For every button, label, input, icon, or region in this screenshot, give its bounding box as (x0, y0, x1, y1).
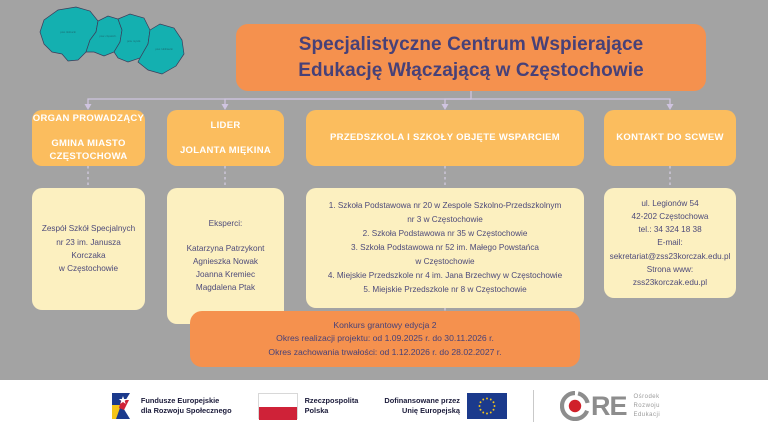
contact-email-label: E-mail: (657, 236, 682, 249)
body-lider-eksperci: Eksperci: Katarzyna Patrzykont Agnieszka… (167, 188, 284, 324)
header-line-2: JOLANTA MIĘKINA (180, 144, 271, 158)
eu-cofunded-line-2: Unię Europejską (384, 406, 460, 416)
expert-name: Magdalena Ptak (196, 281, 255, 294)
body-kontakt: ul. Legionów 54 42-202 Częstochowa tel.:… (604, 188, 736, 298)
grant-line-2: Okres realizacji projektu: od 1.09.2025 … (276, 332, 494, 346)
header-przedszkola-szkoly[interactable]: PRZEDSZKOLA I SZKOŁY OBJĘTE WSPARCIEM (306, 110, 584, 166)
contact-address-city: 42-202 Częstochowa (632, 210, 709, 223)
ore-sub-line-2: Rozwoju (633, 402, 660, 411)
column-organ-prowadzacy: ORGAN PROWADZĄCY GMINA MIASTO CZĘSTOCHOW… (32, 110, 145, 310)
ore-sub-line-1: Ośrodek (633, 393, 660, 402)
grant-line-3: Okres zachowania trwałości: od 1.12.2026… (268, 346, 501, 360)
school-list-item: 1. Szkoła Podstawowa nr 20 w Zespole Szk… (329, 199, 562, 213)
eksperci-label: Eksperci: (209, 217, 243, 230)
page-title-line-1: Specjalistyczne Centrum Wspierające (298, 32, 644, 58)
ore-subtitle: Ośrodek Rozwoju Edukacji (633, 393, 660, 420)
logo-dofinansowane-ue: Dofinansowane przez Unię Europejską (384, 393, 507, 419)
column-kontakt: KONTAKT DO SCWEW ul. Legionów 54 42-202 … (604, 110, 736, 298)
footer-logo-bar: Fundusze Europejskie dla Rozwoju Społecz… (0, 380, 768, 432)
expert-name: Joanna Kremiec (196, 268, 255, 281)
poland-line-2: Polska (305, 406, 359, 416)
expert-name: Agnieszka Nowak (193, 255, 258, 268)
region-map-svg: pow. kłobucki pow. częstoch. pow. myszk.… (24, 4, 192, 96)
header-line-1: KONTAKT DO SCWEW (616, 131, 724, 145)
logo-rzeczpospolita-polska: Rzeczpospolita Polska (258, 393, 359, 419)
logo-dofinansowane-ue-text: Dofinansowane przez Unię Europejską (384, 396, 460, 416)
column-przedszkola-szkoly: PRZEDSZKOLA I SZKOŁY OBJĘTE WSPARCIEM 1.… (306, 110, 584, 308)
grant-info-box: Konkurs grantowy edycja 2 Okres realizac… (190, 311, 580, 367)
body-line: w Częstochowie (59, 262, 118, 275)
svg-text:pow. myszk.: pow. myszk. (127, 39, 141, 43)
contact-www-value[interactable]: zss23korczak.edu.pl (633, 276, 707, 289)
header-lider[interactable]: LIDER JOLANTA MIĘKINA (167, 110, 284, 166)
contact-phone: tel.: 34 324 18 38 (638, 223, 701, 236)
body-organ-prowadzacy: Zespół Szkół Specjalnych nr 23 im. Janus… (32, 188, 145, 310)
header-line-1: ORGAN PROWADZĄCY (33, 112, 144, 126)
eu-funds-line-1: Fundusze Europejskie (141, 396, 232, 406)
logo-fundusze-europejskie: Fundusze Europejskie dla Rozwoju Społecz… (108, 391, 232, 421)
svg-text:pow. częstoch.: pow. częstoch. (99, 34, 116, 38)
logo-rzeczpospolita-polska-text: Rzeczpospolita Polska (305, 396, 359, 416)
svg-text:pow. lubliniecki: pow. lubliniecki (155, 47, 173, 51)
school-list-item: w Częstochowie (415, 255, 474, 269)
eu-funds-icon (108, 391, 134, 421)
logo-fundusze-europejskie-text: Fundusze Europejskie dla Rozwoju Społecz… (141, 396, 232, 416)
footer-divider (533, 390, 534, 422)
contact-address-street: ul. Legionów 54 (641, 197, 698, 210)
school-list-item: nr 3 w Częstochowie (407, 213, 483, 227)
header-kontakt[interactable]: KONTAKT DO SCWEW (604, 110, 736, 166)
header-line-1: PRZEDSZKOLA I SZKOŁY OBJĘTE WSPARCIEM (330, 131, 560, 145)
body-line: nr 23 im. Janusza Korczaka (38, 236, 139, 263)
region-map: pow. kłobucki pow. częstoch. pow. myszk.… (24, 4, 192, 96)
eu-flag-icon (467, 393, 507, 419)
ore-wordmark: RE (560, 391, 627, 421)
expert-name: Katarzyna Patrzykont (187, 242, 265, 255)
header-line-2: GMINA MIASTO (51, 137, 125, 151)
contact-email-value[interactable]: sekretariat@zss23korczak.edu.pl (610, 250, 731, 263)
header-line-1: LIDER (211, 119, 241, 133)
school-list-item: 5. Miejskie Przedszkole nr 8 w Częstocho… (363, 283, 526, 297)
body-line: Zespół Szkół Specjalnych (42, 222, 135, 235)
column-lider: LIDER JOLANTA MIĘKINA Eksperci: Katarzyn… (167, 110, 284, 324)
ore-sub-line-3: Edukacji (633, 411, 660, 420)
header-line-3: CZĘSTOCHOWA (49, 150, 127, 164)
header-organ-prowadzacy[interactable]: ORGAN PROWADZĄCY GMINA MIASTO CZĘSTOCHOW… (32, 110, 145, 166)
poland-line-1: Rzeczpospolita (305, 396, 359, 406)
school-list-item: 3. Szkoła Podstawowa nr 52 im. Małego Po… (351, 241, 539, 255)
eu-funds-line-2: dla Rozwoju Społecznego (141, 406, 232, 416)
svg-text:pow. kłobucki: pow. kłobucki (60, 30, 76, 34)
page-title-line-2: Edukację Włączającą w Częstochowie (298, 58, 644, 84)
logo-ore: RE Ośrodek Rozwoju Edukacji (560, 391, 660, 421)
contact-www-label: Strona www: (647, 263, 693, 276)
ore-circle-icon (560, 391, 590, 421)
poland-flag-icon (258, 393, 298, 419)
page-title: Specjalistyczne Centrum Wspierające Eduk… (236, 24, 706, 91)
school-list-item: 4. Miejskie Przedszkole nr 4 im. Jana Br… (328, 269, 562, 283)
body-school-list: 1. Szkoła Podstawowa nr 20 w Zespole Szk… (306, 188, 584, 308)
ore-letters: RE (591, 393, 627, 420)
grant-line-1: Konkurs grantowy edycja 2 (333, 319, 436, 333)
school-list-item: 2. Szkoła Podstawowa nr 35 w Częstochowi… (363, 227, 528, 241)
eu-cofunded-line-1: Dofinansowane przez (384, 396, 460, 406)
